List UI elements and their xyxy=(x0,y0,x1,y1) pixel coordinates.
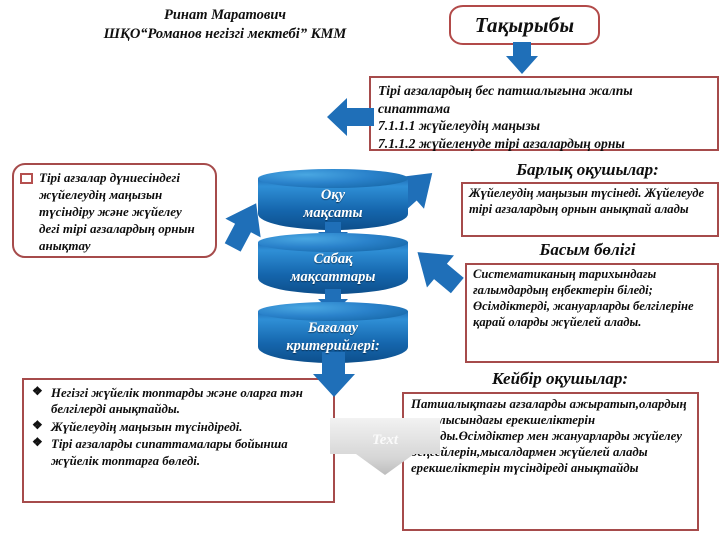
list-item: ❖ Тірі ағзаларды сипаттамалары бойынша ж… xyxy=(30,436,327,469)
cylinder-lesson-objectives: Сабақ мақсаттары xyxy=(258,233,408,301)
text-placeholder-label: Text xyxy=(330,432,440,449)
diamond-bullet-icon: ❖ xyxy=(32,384,43,399)
cylinder-assessment-criteria: Бағалау критерийлері: xyxy=(258,302,408,370)
most-students-box: Систематиканың тарихындағы ғалымдардың е… xyxy=(465,263,719,363)
cylinder-label: Сабақ мақсаттары xyxy=(258,240,408,298)
heading-some-students: Кейбір оқушылар: xyxy=(410,369,710,389)
slide-canvas: Ринат Маратович ШҚО“Романов негізгі мект… xyxy=(0,0,720,540)
list-item: ❖ Негізгі жүйелік топтарды және оларға т… xyxy=(30,385,327,418)
cylinder-label-line1: Бағалау xyxy=(308,320,358,338)
all-students-box: Жүйелеудің маңызын түсінеді. Жүйелеуде т… xyxy=(461,182,719,237)
diamond-bullet-icon: ❖ xyxy=(32,435,43,450)
cylinder-label-line1: Сабақ xyxy=(314,251,353,269)
cylinder-label-line2: мақсаты xyxy=(303,205,362,223)
heading-all-students: Барлық оқушылар: xyxy=(455,160,720,180)
square-outline-bullet-icon xyxy=(20,173,33,184)
author-block: Ринат Маратович ШҚО“Романов негізгі мект… xyxy=(60,6,390,43)
list-item-label: Негізгі жүйелік топтарды және оларға тән… xyxy=(51,386,303,416)
text-placeholder-banner: Text xyxy=(330,418,440,476)
author-school: ШҚО“Романов негізгі мектебі” КММ xyxy=(60,25,390,44)
cylinder-label-line2: критерийлері: xyxy=(286,338,380,356)
goal-line-4: дегі тірі ағзалардың орнын xyxy=(39,221,209,238)
page-title: Тақырыбы xyxy=(475,13,575,38)
diamond-bullet-icon: ❖ xyxy=(32,418,43,433)
some-students-box: Патшалықтағы ағзаларды ажыратып,олардың … xyxy=(402,392,699,531)
topic-line-1: Тірі ағзалардың бес патшалығына жалпы xyxy=(378,82,711,100)
topic-box: Тірі ағзалардың бес патшалығына жалпы си… xyxy=(369,76,719,151)
criteria-bullets-box: ❖ Негізгі жүйелік топтарды және оларға т… xyxy=(22,378,335,503)
cylinder-label: Бағалау критерийлері: xyxy=(258,309,408,367)
heading-most-students: Басым бөлігі xyxy=(455,240,720,260)
goal-line-2: жүйелеудің маңызын xyxy=(39,187,209,204)
goal-line-3: түсіндіру және жүйелеу xyxy=(39,204,209,221)
title-pill: Тақырыбы xyxy=(449,5,600,45)
author-name: Ринат Маратович xyxy=(60,6,390,25)
list-item: ❖ Жүйелеудің маңызын түсіндіреді. xyxy=(30,419,327,435)
criteria-bullet-list: ❖ Негізгі жүйелік топтарды және оларға т… xyxy=(30,385,327,469)
cylinder-label: Оқу мақсаты xyxy=(258,176,408,234)
learning-goal-box: Тірі ағзалар дүниесіндегі жүйелеудің маң… xyxy=(12,163,217,258)
goal-line-5: анықтау xyxy=(39,238,209,255)
arrow-title-to-topic-icon xyxy=(505,42,539,76)
topic-line-2: сипаттама xyxy=(378,100,711,118)
arrow-topic-to-left-icon xyxy=(327,96,375,138)
cylinder-label-line1: Оқу xyxy=(321,187,345,205)
topic-line-4: 7.1.1.2 жүйеленуде тірі ағзалардың орны xyxy=(378,135,711,153)
goal-line-1: Тірі ағзалар дүниесіндегі xyxy=(39,170,209,187)
list-item-label: Жүйелеудің маңызын түсіндіреді. xyxy=(51,420,243,434)
topic-line-3: 7.1.1.1 жүйелеудің маңызы xyxy=(378,117,711,135)
list-item-label: Тірі ағзаларды сипаттамалары бойынша жүй… xyxy=(51,437,288,467)
cylinder-learning-objective: Оқу мақсаты xyxy=(258,169,408,237)
cylinder-label-line2: мақсаттары xyxy=(291,269,376,287)
